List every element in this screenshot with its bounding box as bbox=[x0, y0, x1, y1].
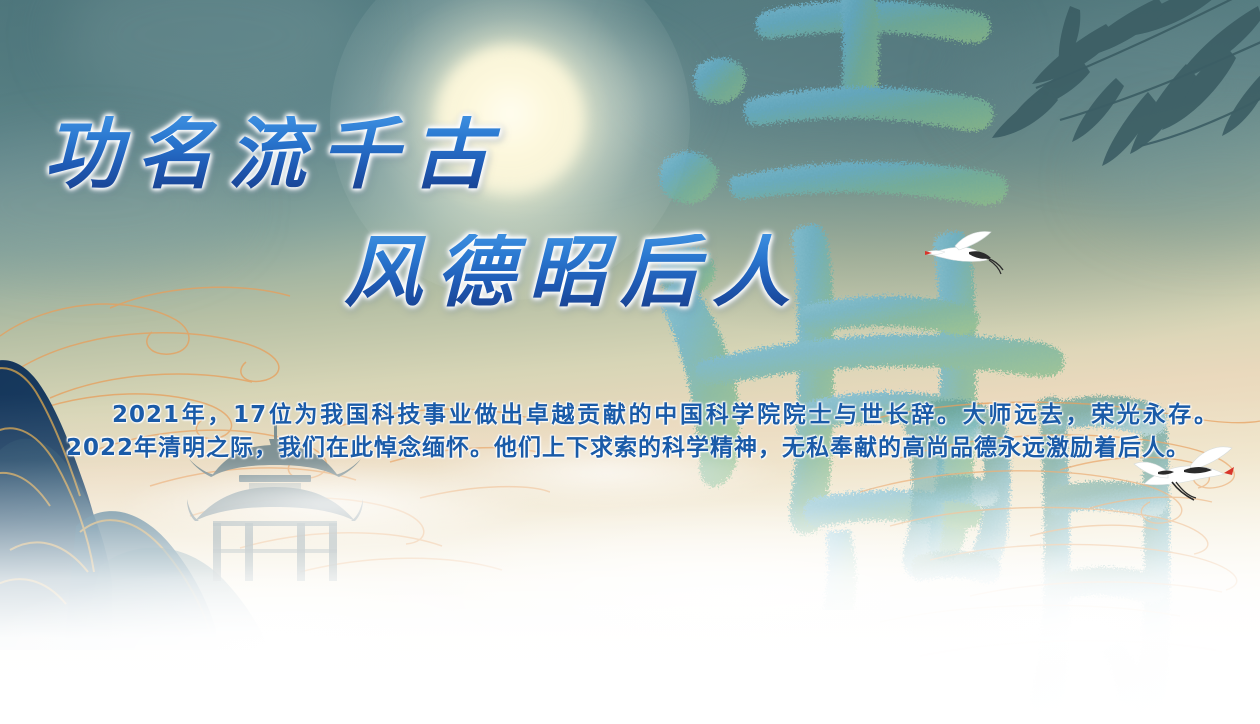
bamboo-branch-icon bbox=[940, 0, 1260, 210]
moon bbox=[330, 0, 690, 300]
headline-line-2-text: 风德昭后人 bbox=[344, 234, 804, 312]
flying-crane-icon bbox=[1128, 440, 1234, 510]
cloud-smudge bbox=[420, 40, 680, 160]
headline-line-2: 风德昭后人 bbox=[344, 234, 804, 312]
moon-glow bbox=[330, 0, 690, 300]
headline-line-1: 功名流千古 bbox=[44, 116, 504, 194]
headline-line-1-text: 功名流千古 bbox=[44, 116, 504, 194]
cloud-smudge bbox=[60, 0, 360, 110]
mist-clouds-layer bbox=[0, 394, 1260, 724]
flying-crane-icon bbox=[925, 228, 1005, 280]
qingming-memorial-poster: 功名流千古 风德昭后人 2021年，17位为我国科技事业做出卓越贡献的中国科学院… bbox=[0, 0, 1260, 724]
cloud-smudge bbox=[0, 140, 240, 270]
moon-core bbox=[436, 46, 584, 194]
